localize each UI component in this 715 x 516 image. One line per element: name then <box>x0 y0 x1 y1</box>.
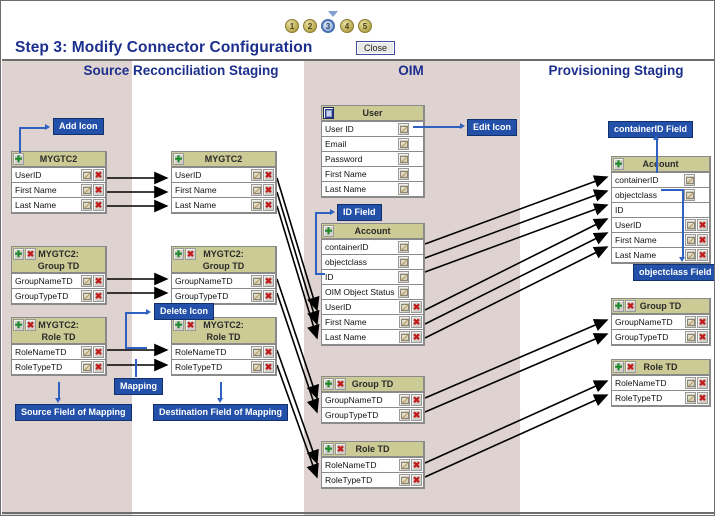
callout-arrow <box>45 124 50 130</box>
callout-mapping: Mapping <box>114 378 163 395</box>
row-label: Last Name <box>15 198 56 213</box>
table-source-mygtc2[interactable]: MYGTC2 UserID First Name Last Name <box>11 151 107 214</box>
table-row[interactable]: OIM Object Status <box>322 284 423 299</box>
edit-icon[interactable] <box>398 153 409 165</box>
edit-icon[interactable] <box>685 377 696 389</box>
callout-containerid-field: containerID Field <box>608 121 693 138</box>
table-row[interactable]: RoleTypeTD <box>172 359 275 374</box>
row-label: RoleNameTD <box>615 376 667 391</box>
edit-icon[interactable] <box>81 184 92 196</box>
callout-line <box>125 312 147 314</box>
delete-icon[interactable] <box>625 361 636 373</box>
row-icons[interactable] <box>398 286 409 298</box>
table-subtitle: Role TD <box>172 330 275 343</box>
table-row[interactable]: GroupNameTD <box>612 314 709 329</box>
step-indicator: 1 2 3 4 5 <box>285 17 381 35</box>
row-icons[interactable] <box>398 241 409 253</box>
delete-icon[interactable] <box>93 361 104 373</box>
table-header: User <box>322 106 423 121</box>
table-header: MYGTC2: Group TD <box>12 247 105 273</box>
delete-icon[interactable] <box>93 169 104 181</box>
row-label: UserID <box>325 300 351 315</box>
table-header: Role TD <box>322 442 423 457</box>
table-row[interactable]: GroupTypeTD <box>172 288 275 303</box>
delete-icon[interactable] <box>185 248 196 260</box>
row-label: Last Name <box>615 248 656 263</box>
add-icon[interactable] <box>323 443 334 455</box>
table-row[interactable]: First Name <box>322 314 423 329</box>
callout-arrow <box>679 257 685 262</box>
edit-icon[interactable] <box>251 184 262 196</box>
callout-line <box>125 312 127 348</box>
callout-line <box>661 189 683 191</box>
table-staging-role-td[interactable]: MYGTC2: Role TD RoleNameTD RoleTypeTD <box>171 317 277 376</box>
table-title: Account <box>612 157 709 172</box>
delete-icon[interactable] <box>25 319 36 331</box>
table-row[interactable]: Email <box>322 136 423 151</box>
edit-icon[interactable] <box>399 459 410 471</box>
header-icons[interactable] <box>173 153 184 165</box>
delete-icon[interactable] <box>411 409 422 421</box>
header-icons[interactable] <box>13 319 36 331</box>
edit-icon[interactable] <box>398 271 409 283</box>
table-oim-role-td[interactable]: Role TD RoleNameTD RoleTypeTD <box>321 441 425 489</box>
table-row[interactable]: First Name <box>172 182 275 197</box>
row-label: Last Name <box>325 182 366 197</box>
row-label: GroupTypeTD <box>325 408 378 423</box>
table-row[interactable]: UserID <box>12 167 105 182</box>
header-icons[interactable] <box>613 300 636 312</box>
add-icon[interactable] <box>13 319 24 331</box>
add-icon[interactable] <box>323 225 334 237</box>
delete-icon[interactable] <box>411 301 422 313</box>
row-label: Last Name <box>325 330 366 345</box>
row-label: UserID <box>15 168 41 183</box>
edit-icon[interactable] <box>685 316 696 328</box>
callout-line <box>682 189 684 259</box>
header-icons[interactable] <box>323 443 346 455</box>
row-icons[interactable] <box>251 361 274 373</box>
callout-arrow <box>146 309 151 315</box>
table-header: Group TD <box>322 377 423 392</box>
connector-configuration-page: 1 2 3 4 5 Step 3: Modify Connector Confi… <box>0 0 715 516</box>
header-icons <box>323 107 334 119</box>
delete-icon[interactable] <box>185 319 196 331</box>
row-icons[interactable] <box>398 256 409 268</box>
header-icons[interactable] <box>13 248 36 260</box>
row-icons[interactable] <box>251 290 274 302</box>
callout-destination-field: Destination Field of Mapping <box>153 404 288 421</box>
table-source-role-td[interactable]: MYGTC2: Role TD RoleNameTD RoleTypeTD <box>11 317 107 376</box>
callout-line <box>656 139 658 173</box>
header-icons[interactable] <box>323 225 334 237</box>
row-label: OIM Object Status <box>325 285 394 300</box>
table-header: Account <box>612 157 709 172</box>
delete-icon[interactable] <box>697 377 708 389</box>
delete-icon[interactable] <box>697 316 708 328</box>
row-icons[interactable] <box>81 275 104 287</box>
callout-line <box>135 359 137 377</box>
delete-icon[interactable] <box>93 199 104 211</box>
row-icons[interactable] <box>684 189 695 201</box>
add-icon[interactable] <box>13 153 24 165</box>
row-icons[interactable] <box>399 474 422 486</box>
row-icons[interactable] <box>685 377 708 389</box>
table-title: MYGTC2 <box>172 152 275 167</box>
delete-icon[interactable] <box>697 219 708 231</box>
row-icons[interactable] <box>81 361 104 373</box>
table-header: Account <box>322 224 423 239</box>
table-row[interactable]: Password <box>322 151 423 166</box>
edit-icon[interactable] <box>399 394 410 406</box>
row-label: RoleTypeTD <box>15 360 62 375</box>
row-icons[interactable] <box>399 409 422 421</box>
callout-arrow <box>330 209 335 215</box>
add-icon[interactable] <box>323 378 334 390</box>
row-icons[interactable] <box>81 199 104 211</box>
row-icons[interactable] <box>251 346 274 358</box>
row-icons[interactable] <box>685 234 708 246</box>
callout-objectclass-field: objectclass Field <box>633 264 715 281</box>
row-label: GroupTypeTD <box>15 289 68 304</box>
edit-icon[interactable] <box>251 275 262 287</box>
table-row[interactable]: GroupTypeTD <box>12 288 105 303</box>
table-staging-mygtc2[interactable]: MYGTC2 UserID First Name Last Name <box>171 151 277 214</box>
table-row[interactable]: objectclass <box>322 254 423 269</box>
step-dot-2[interactable]: 2 <box>303 19 317 33</box>
add-icon[interactable] <box>13 248 24 260</box>
table-title: User <box>322 106 423 121</box>
step-dot-3[interactable]: 3 <box>321 19 335 33</box>
delete-icon[interactable] <box>411 316 422 328</box>
edit-icon[interactable] <box>251 290 262 302</box>
delete-icon[interactable] <box>25 248 36 260</box>
step-dot-1[interactable]: 1 <box>285 19 299 33</box>
row-icons[interactable] <box>685 331 708 343</box>
delete-icon[interactable] <box>625 300 636 312</box>
row-icons[interactable] <box>685 392 708 404</box>
row-label: ID <box>325 270 334 285</box>
table-header: MYGTC2: Role TD <box>172 318 275 344</box>
table-row[interactable]: GroupNameTD <box>12 273 105 288</box>
row-label: objectclass <box>615 188 657 203</box>
edit-icon[interactable] <box>684 174 695 186</box>
row-label: Password <box>325 152 362 167</box>
delete-icon[interactable] <box>263 275 274 287</box>
row-icons[interactable] <box>398 123 409 135</box>
table-provisioning-group-td[interactable]: Group TD GroupNameTD GroupTypeTD <box>611 298 711 346</box>
callout-arrow <box>653 135 659 140</box>
table-source-group-td[interactable]: MYGTC2: Group TD GroupNameTD GroupTypeTD <box>11 246 107 305</box>
edit-icon[interactable] <box>398 256 409 268</box>
table-header: Group TD <box>612 299 709 314</box>
row-label: User ID <box>325 122 354 137</box>
step-dot-4[interactable]: 4 <box>340 19 354 33</box>
delete-icon[interactable] <box>263 199 274 211</box>
add-icon[interactable] <box>613 361 624 373</box>
callout-line <box>220 382 222 399</box>
header-icons[interactable] <box>613 158 624 170</box>
delete-icon[interactable] <box>335 378 346 390</box>
table-row[interactable]: RoleNameTD <box>172 344 275 359</box>
table-row[interactable]: First Name <box>612 232 709 247</box>
column-header-oim: OIM <box>341 63 481 78</box>
add-icon[interactable] <box>173 153 184 165</box>
callout-line <box>19 127 45 129</box>
edit-icon[interactable] <box>685 219 696 231</box>
table-row[interactable]: RoleTypeTD <box>12 359 105 374</box>
edit-icon[interactable] <box>398 123 409 135</box>
table-row[interactable]: First Name <box>322 166 423 181</box>
add-icon[interactable] <box>173 248 184 260</box>
row-label: RoleNameTD <box>175 345 227 360</box>
table-header: MYGTC2 <box>12 152 105 167</box>
table-subtitle: Group TD <box>172 259 275 272</box>
row-label: GroupNameTD <box>325 393 383 408</box>
table-row[interactable]: Last Name <box>612 247 709 262</box>
add-icon[interactable] <box>613 158 624 170</box>
delete-icon[interactable] <box>93 275 104 287</box>
table-header: MYGTC2 <box>172 152 275 167</box>
row-icons[interactable] <box>399 301 422 313</box>
edit-icon[interactable] <box>398 183 409 195</box>
table-row[interactable]: RoleTypeTD <box>322 472 423 487</box>
row-label: GroupTypeTD <box>615 330 668 345</box>
row-label: GroupTypeTD <box>175 289 228 304</box>
table-subtitle: Role TD <box>12 330 105 343</box>
delete-icon[interactable] <box>697 234 708 246</box>
table-staging-group-td[interactable]: MYGTC2: Group TD GroupNameTD GroupTypeTD <box>171 246 277 305</box>
row-icons[interactable] <box>685 249 708 261</box>
close-button[interactable]: Close <box>356 41 395 55</box>
callout-id-field: ID Field <box>337 204 382 221</box>
table-row[interactable]: RoleNameTD <box>612 375 709 390</box>
row-label: RoleTypeTD <box>325 473 372 488</box>
row-icons[interactable] <box>251 169 274 181</box>
table-row[interactable]: containerID <box>612 172 709 187</box>
table-row[interactable]: containerID <box>322 239 423 254</box>
header-icons[interactable] <box>173 319 196 331</box>
row-icons[interactable] <box>398 271 409 283</box>
table-row[interactable]: GroupNameTD <box>172 273 275 288</box>
table-row[interactable]: Last Name <box>322 181 423 196</box>
header-icons[interactable] <box>323 378 346 390</box>
callout-line <box>19 129 21 153</box>
row-label: Email <box>325 137 346 152</box>
row-icons[interactable] <box>81 169 104 181</box>
table-row[interactable]: UserID <box>322 299 423 314</box>
table-provisioning-account[interactable]: Account containerID objectclass ID UserI… <box>611 156 711 264</box>
row-label: RoleNameTD <box>15 345 67 360</box>
step-dot-5[interactable]: 5 <box>358 19 372 33</box>
delete-icon[interactable] <box>697 331 708 343</box>
callout-line <box>58 382 60 399</box>
delete-icon[interactable] <box>93 346 104 358</box>
edit-icon[interactable] <box>399 409 410 421</box>
bottom-divider <box>2 512 715 514</box>
row-label: containerID <box>615 173 658 188</box>
delete-icon[interactable] <box>263 346 274 358</box>
callout-source-field: Source Field of Mapping <box>15 404 132 421</box>
column-header-source: Source Reconciliation Staging <box>56 63 306 78</box>
row-label: objectclass <box>325 255 367 270</box>
table-row[interactable]: UserID <box>612 217 709 232</box>
row-label: First Name <box>615 233 657 248</box>
delete-icon[interactable] <box>93 184 104 196</box>
callout-line <box>413 126 461 128</box>
edit-icon[interactable] <box>81 199 92 211</box>
table-oim-account[interactable]: Account containerID objectclass ID OIM O… <box>321 223 425 346</box>
edit-icon[interactable] <box>399 474 410 486</box>
callout-line <box>315 212 331 214</box>
row-icons[interactable] <box>398 138 409 150</box>
delete-icon[interactable] <box>335 443 346 455</box>
edit-icon[interactable] <box>399 331 410 343</box>
row-icons[interactable] <box>685 316 708 328</box>
table-provisioning-role-td[interactable]: Role TD RoleNameTD RoleTypeTD <box>611 359 711 407</box>
table-oim-group-td[interactable]: Group TD GroupNameTD GroupTypeTD <box>321 376 425 424</box>
header-icons[interactable] <box>173 248 196 260</box>
page-title: Step 3: Modify Connector Configuration <box>15 39 312 57</box>
row-label: GroupNameTD <box>15 274 73 289</box>
column-header-provisioning: Provisioning Staging <box>521 63 711 78</box>
row-icons[interactable] <box>684 174 695 186</box>
row-icons[interactable] <box>399 316 422 328</box>
add-icon[interactable] <box>173 319 184 331</box>
table-row[interactable]: ID <box>322 269 423 284</box>
edit-icon[interactable] <box>81 361 92 373</box>
edit-icon[interactable] <box>251 361 262 373</box>
table-row[interactable]: GroupNameTD <box>322 392 423 407</box>
callout-line <box>315 273 325 275</box>
callout-edit-icon: Edit Icon <box>467 119 517 136</box>
delete-icon[interactable] <box>411 459 422 471</box>
row-icons[interactable] <box>251 184 274 196</box>
row-label: RoleNameTD <box>325 458 377 473</box>
table-row[interactable]: Last Name <box>12 197 105 212</box>
table-title: MYGTC2 <box>12 152 105 167</box>
callout-add-icon: Add Icon <box>53 118 104 135</box>
row-label: containerID <box>325 240 368 255</box>
row-label: First Name <box>15 183 57 198</box>
row-label: GroupNameTD <box>175 274 233 289</box>
row-icons[interactable] <box>81 184 104 196</box>
row-icons[interactable] <box>399 394 422 406</box>
edit-icon[interactable] <box>81 169 92 181</box>
edit-icon[interactable] <box>685 392 696 404</box>
edit-icon[interactable] <box>81 290 92 302</box>
table-row[interactable]: Last Name <box>322 329 423 344</box>
table-row[interactable]: First Name <box>12 182 105 197</box>
row-icons[interactable] <box>399 331 422 343</box>
user-icon <box>323 107 334 119</box>
table-subtitle: Group TD <box>12 259 105 272</box>
title-divider <box>2 59 715 61</box>
delete-icon[interactable] <box>93 290 104 302</box>
edit-icon[interactable] <box>251 346 262 358</box>
edit-icon[interactable] <box>251 199 262 211</box>
edit-icon[interactable] <box>81 275 92 287</box>
callout-line <box>315 212 317 274</box>
delete-icon[interactable] <box>263 361 274 373</box>
edit-icon[interactable] <box>399 316 410 328</box>
table-title: Account <box>322 224 423 239</box>
row-label: Last Name <box>175 198 216 213</box>
edit-icon[interactable] <box>251 169 262 181</box>
row-label: ID <box>615 203 624 218</box>
table-row[interactable]: RoleTypeTD <box>612 390 709 405</box>
table-oim-user[interactable]: User User ID Email Password First Name L… <box>321 105 425 198</box>
edit-icon[interactable] <box>398 168 409 180</box>
header-icons[interactable] <box>613 361 636 373</box>
edit-icon[interactable] <box>685 234 696 246</box>
table-header: Role TD <box>612 360 709 375</box>
callout-arrow <box>460 123 465 129</box>
table-row[interactable]: ID <box>612 202 709 217</box>
delete-icon[interactable] <box>263 169 274 181</box>
delete-icon[interactable] <box>697 249 708 261</box>
row-label: RoleTypeTD <box>615 391 662 406</box>
row-icons[interactable] <box>398 183 409 195</box>
table-row[interactable]: User ID <box>322 121 423 136</box>
table-row[interactable]: Last Name <box>172 197 275 212</box>
table-header: MYGTC2: Group TD <box>172 247 275 273</box>
row-label: RoleTypeTD <box>175 360 222 375</box>
row-icons[interactable] <box>81 290 104 302</box>
callout-line <box>125 347 147 349</box>
delete-icon[interactable] <box>411 331 422 343</box>
delete-icon[interactable] <box>411 394 422 406</box>
edit-icon[interactable] <box>684 189 695 201</box>
callout-arrow <box>55 398 61 403</box>
callout-delete-icon: Delete Icon <box>154 303 214 320</box>
row-icons[interactable] <box>399 459 422 471</box>
edit-icon[interactable] <box>685 331 696 343</box>
row-icons[interactable] <box>251 199 274 211</box>
delete-icon[interactable] <box>263 290 274 302</box>
row-label: GroupNameTD <box>615 315 673 330</box>
table-row[interactable]: RoleNameTD <box>322 457 423 472</box>
row-label: First Name <box>175 183 217 198</box>
edit-icon[interactable] <box>398 138 409 150</box>
step-caret-icon <box>328 11 338 17</box>
table-row[interactable]: GroupTypeTD <box>322 407 423 422</box>
table-row[interactable]: GroupTypeTD <box>612 329 709 344</box>
edit-icon[interactable] <box>398 286 409 298</box>
table-row[interactable]: UserID <box>172 167 275 182</box>
delete-icon[interactable] <box>697 392 708 404</box>
row-icons[interactable] <box>398 168 409 180</box>
delete-icon[interactable] <box>411 474 422 486</box>
delete-icon[interactable] <box>263 184 274 196</box>
edit-icon[interactable] <box>685 249 696 261</box>
edit-icon[interactable] <box>399 301 410 313</box>
row-icons[interactable] <box>81 346 104 358</box>
row-icons[interactable] <box>398 153 409 165</box>
row-label: UserID <box>175 168 201 183</box>
edit-icon[interactable] <box>398 241 409 253</box>
row-icons[interactable] <box>685 219 708 231</box>
row-label: First Name <box>325 315 367 330</box>
row-label: First Name <box>325 167 367 182</box>
add-icon[interactable] <box>613 300 624 312</box>
table-header: MYGTC2: Role TD <box>12 318 105 344</box>
header-icons[interactable] <box>13 153 24 165</box>
row-label: UserID <box>615 218 641 233</box>
row-icons[interactable] <box>251 275 274 287</box>
edit-icon[interactable] <box>81 346 92 358</box>
table-row[interactable]: RoleNameTD <box>12 344 105 359</box>
